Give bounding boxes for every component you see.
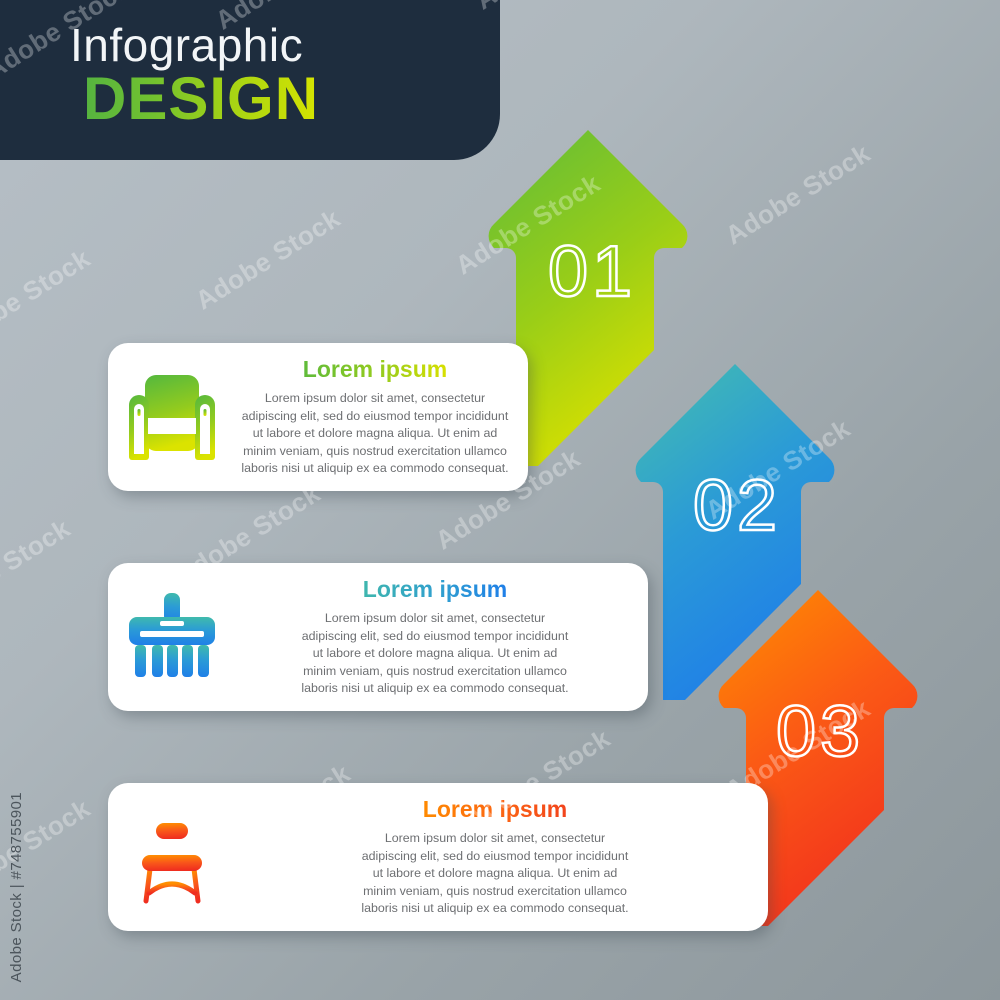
info-card-2[interactable]: Lorem ipsum Lorem ipsum dolor sit amet, … — [108, 563, 648, 711]
arrow-step-02-number: 02 — [693, 470, 781, 542]
arrow-step-01-number: 01 — [548, 236, 636, 308]
arrow-step-03-number: 03 — [776, 696, 864, 768]
info-card-3[interactable]: Lorem ipsum Lorem ipsum dolor sit amet, … — [108, 783, 768, 931]
watermark-tile: Adobe Stock — [0, 513, 76, 626]
card-3-text: Lorem ipsum dolor sit amet, consectetur … — [361, 830, 629, 918]
card-1-text: Lorem ipsum dolor sit amet, consectetur … — [241, 390, 509, 478]
armchair-icon — [108, 371, 236, 463]
watermark-tile: Adobe Stock — [720, 138, 876, 251]
card-2-body: Lorem ipsum Lorem ipsum dolor sit amet, … — [236, 576, 648, 698]
card-1-title: Lorem ipsum — [303, 356, 447, 383]
card-2-title: Lorem ipsum — [363, 576, 507, 603]
header-panel: Infographic DESIGN — [0, 0, 500, 160]
card-1-body: Lorem ipsum Lorem ipsum dolor sit amet, … — [236, 356, 528, 478]
chair-icon — [108, 809, 236, 905]
card-2-text: Lorem ipsum dolor sit amet, consectetur … — [301, 610, 569, 698]
page-subtitle: DESIGN — [83, 64, 319, 133]
info-card-1[interactable]: Lorem ipsum Lorem ipsum dolor sit amet, … — [108, 343, 528, 491]
stock-id-label: Adobe Stock | #748755901 — [8, 792, 25, 982]
watermark-tile: Adobe Stock — [190, 203, 346, 316]
card-3-title: Lorem ipsum — [423, 796, 567, 823]
card-3-body: Lorem ipsum Lorem ipsum dolor sit amet, … — [236, 796, 768, 918]
watermark-tile: Adobe Stock — [0, 243, 96, 356]
rake-icon — [108, 591, 236, 683]
